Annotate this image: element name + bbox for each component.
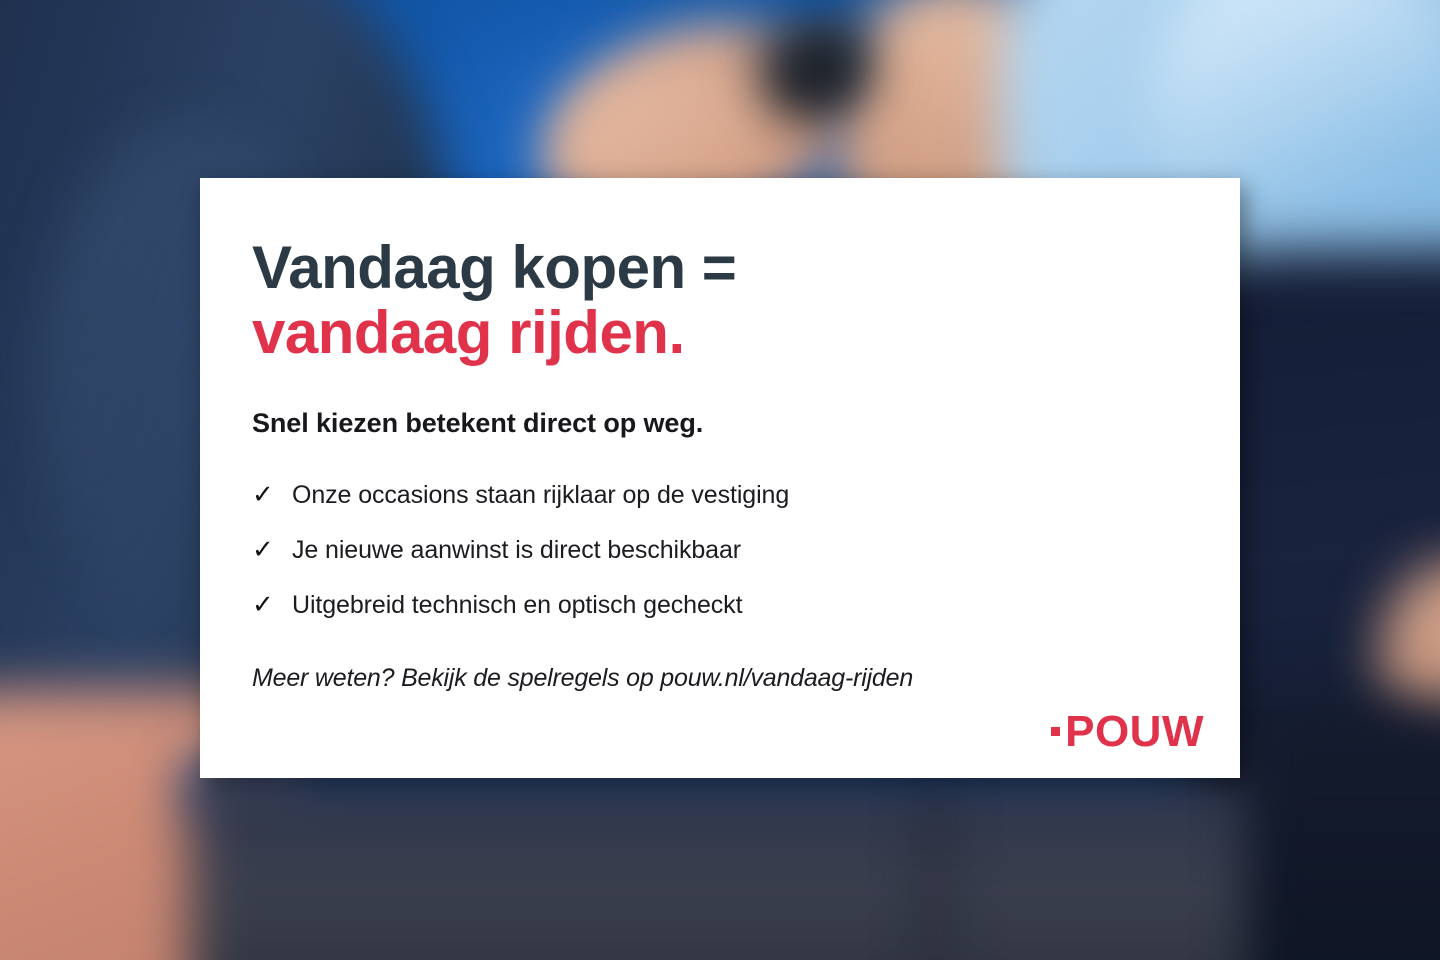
benefit-text: Je nieuwe aanwinst is direct beschikbaar (292, 536, 741, 565)
subheadline: Snel kiezen betekent direct op weg. (252, 408, 1184, 439)
benefits-list: ✓ Onze occasions staan rijklaar op de ve… (252, 481, 1184, 620)
headline-line-2: vandaag rijden. (252, 301, 1184, 366)
benefit-text: Onze occasions staan rijklaar op de vest… (292, 481, 789, 510)
list-item: ✓ Uitgebreid technisch en optisch gechec… (252, 591, 1184, 620)
page-title: Vandaag kopen = vandaag rijden. (252, 236, 1184, 366)
pouw-logo: POUW (1051, 710, 1204, 754)
promo-card: Vandaag kopen = vandaag rijden. Snel kie… (200, 178, 1240, 778)
check-icon: ✓ (252, 591, 292, 617)
benefit-text: Uitgebreid technisch en optisch gecheckt (292, 591, 742, 620)
check-icon: ✓ (252, 481, 292, 507)
headline-line-1: Vandaag kopen = (252, 236, 1184, 301)
poster-stage: Vandaag kopen = vandaag rijden. Snel kie… (0, 0, 1440, 960)
list-item: ✓ Je nieuwe aanwinst is direct beschikba… (252, 536, 1184, 565)
car-sill-dark-band (190, 770, 1280, 960)
antenna-line (930, 780, 940, 960)
check-icon: ✓ (252, 536, 292, 562)
footnote-text: Meer weten? Bekijk de spelregels op pouw… (252, 664, 1184, 693)
logo-wordmark: POUW (1065, 710, 1204, 754)
list-item: ✓ Onze occasions staan rijklaar op de ve… (252, 481, 1184, 510)
logo-dot-icon (1051, 727, 1060, 736)
bottom-right-shadow (1250, 700, 1440, 960)
